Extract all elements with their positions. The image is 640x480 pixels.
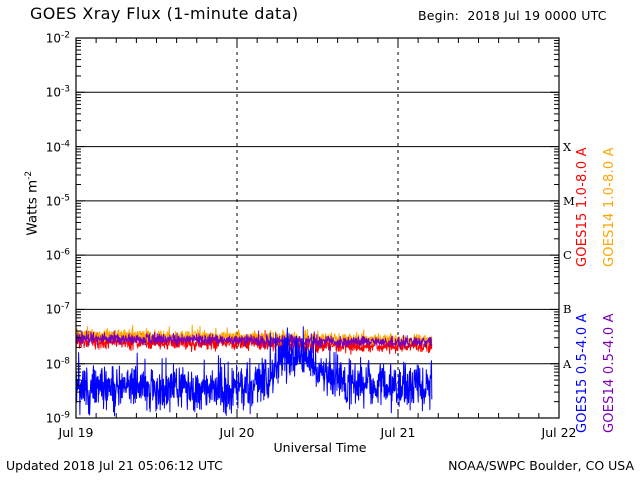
axis-ticks	[76, 38, 559, 418]
plot-frame	[76, 38, 559, 418]
grid-lines	[76, 38, 559, 418]
data-series	[76, 325, 432, 416]
chart-page: GOES Xray Flux (1-minute data) Begin: 20…	[0, 0, 640, 480]
plot-area	[0, 0, 640, 480]
